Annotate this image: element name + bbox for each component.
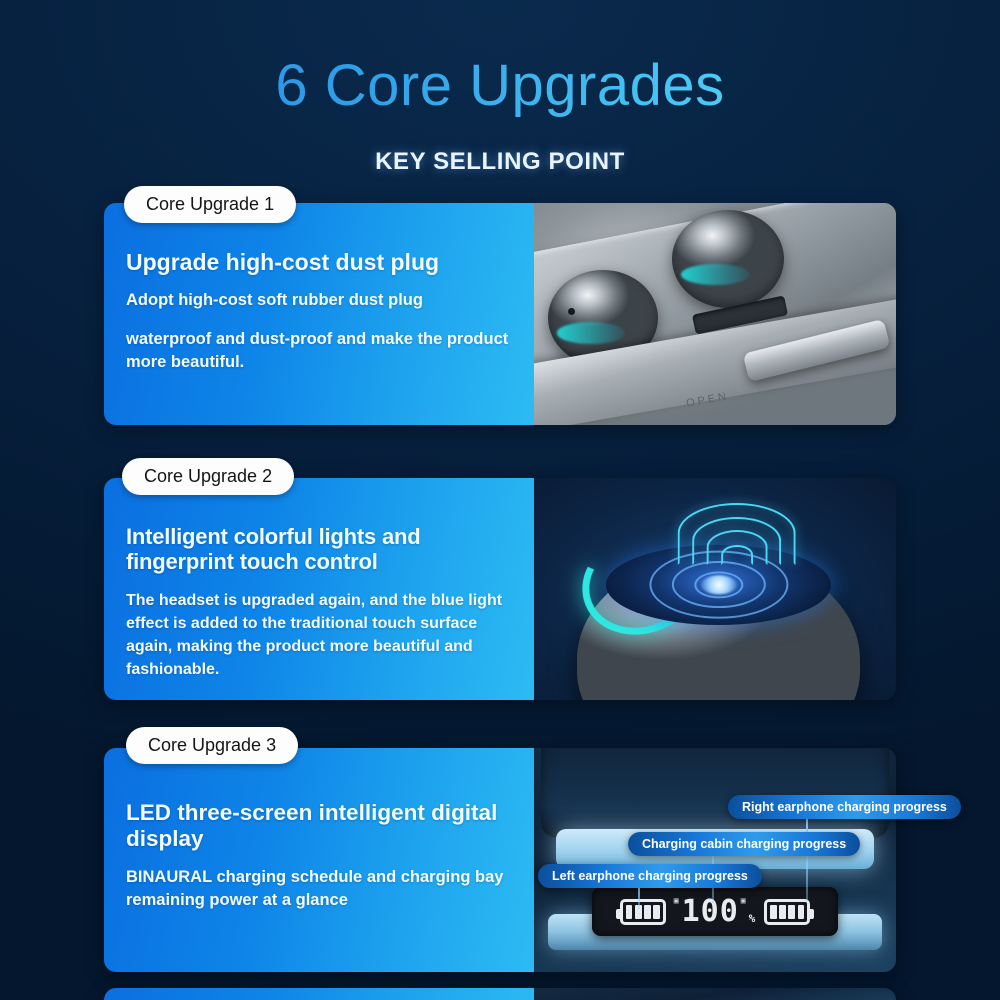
feature-body-1b: waterproof and dust-proof and make the p… [126, 328, 514, 374]
feature-body-2a: The headset is upgraded again, and the b… [126, 589, 514, 682]
feature-card-3: LED three-screen intelligent digital dis… [104, 748, 896, 972]
callout-leader-left [638, 887, 640, 909]
feature-heading-2: Intelligent colorful lights and fingerpr… [126, 524, 514, 575]
feature-card-1: Upgrade high-cost dust plug Adopt high-c… [104, 203, 896, 425]
callout-charging-cabin: Charging cabin charging progress [628, 832, 860, 856]
feature-heading-3: LED three-screen intelligent digital dis… [126, 800, 514, 852]
page-title: 6 Core Upgrades [0, 52, 1000, 119]
product-feature-page: 6 Core Upgrades KEY SELLING POINT Upgrad… [0, 0, 1000, 1000]
battery-bar [779, 905, 786, 919]
feature-photo-4 [534, 988, 896, 1000]
led-display-case-image: ▣ 100 ▣ % [534, 748, 896, 972]
callout-right-earphone: Right earphone charging progress [728, 795, 961, 819]
left-battery-icon [620, 899, 666, 925]
charge-percent-value: 100 [682, 897, 739, 927]
battery-small-icon: ▣ [674, 897, 680, 905]
page-subtitle: KEY SELLING POINT [0, 148, 1000, 176]
fingerprint-icon [664, 498, 809, 565]
feature-text-panel-4 [104, 988, 534, 1000]
percent-symbol: % [749, 913, 757, 924]
badge-core-upgrade-1: Core Upgrade 1 [124, 186, 296, 223]
battery-bar [626, 905, 633, 919]
feature-text-panel-3: LED three-screen intelligent digital dis… [104, 748, 534, 972]
feature-card-2: Intelligent colorful lights and fingerpr… [104, 478, 896, 700]
battery-small-icon: ▣ [741, 897, 747, 905]
battery-bar [644, 905, 651, 919]
feature-photo-1: OPEN [534, 203, 896, 425]
feature-body-3a: BINAURAL charging schedule and charging … [126, 866, 514, 912]
feature-text-panel-1: Upgrade high-cost dust plug Adopt high-c… [104, 203, 534, 425]
battery-bar [653, 905, 660, 919]
badge-core-upgrade-3: Core Upgrade 3 [126, 727, 298, 764]
battery-bar [798, 905, 805, 919]
feature-heading-1: Upgrade high-cost dust plug [126, 249, 514, 275]
light-core-glow [701, 575, 737, 594]
case-lid [541, 748, 889, 838]
callout-leader-right [806, 818, 808, 902]
earbud-accent-ring [557, 322, 625, 343]
feature-card-4-partial [104, 988, 896, 1000]
earbud-accent-ring [681, 264, 750, 286]
feature-text-panel-2: Intelligent colorful lights and fingerpr… [104, 478, 534, 700]
partial-image [534, 988, 896, 1000]
fingerprint-arc [677, 503, 796, 564]
fingerprint-touch-earbud-image [534, 478, 896, 700]
callout-left-earphone: Left earphone charging progress [538, 864, 762, 888]
feature-photo-2 [534, 478, 896, 700]
earbud-right-icon [672, 210, 784, 308]
led-digital-display: ▣ 100 ▣ % [592, 887, 838, 936]
mic-hole-icon [568, 308, 575, 315]
charge-percent-readout: ▣ 100 ▣ % [674, 897, 756, 927]
right-battery-icon [764, 899, 810, 925]
feature-body-1a: Adopt high-cost soft rubber dust plug [126, 289, 514, 312]
badge-core-upgrade-2: Core Upgrade 2 [122, 458, 294, 495]
battery-bar [788, 905, 795, 919]
battery-bar [770, 905, 777, 919]
feature-photo-3: ▣ 100 ▣ % [534, 748, 896, 972]
earbuds-dust-plug-image: OPEN [534, 203, 896, 425]
